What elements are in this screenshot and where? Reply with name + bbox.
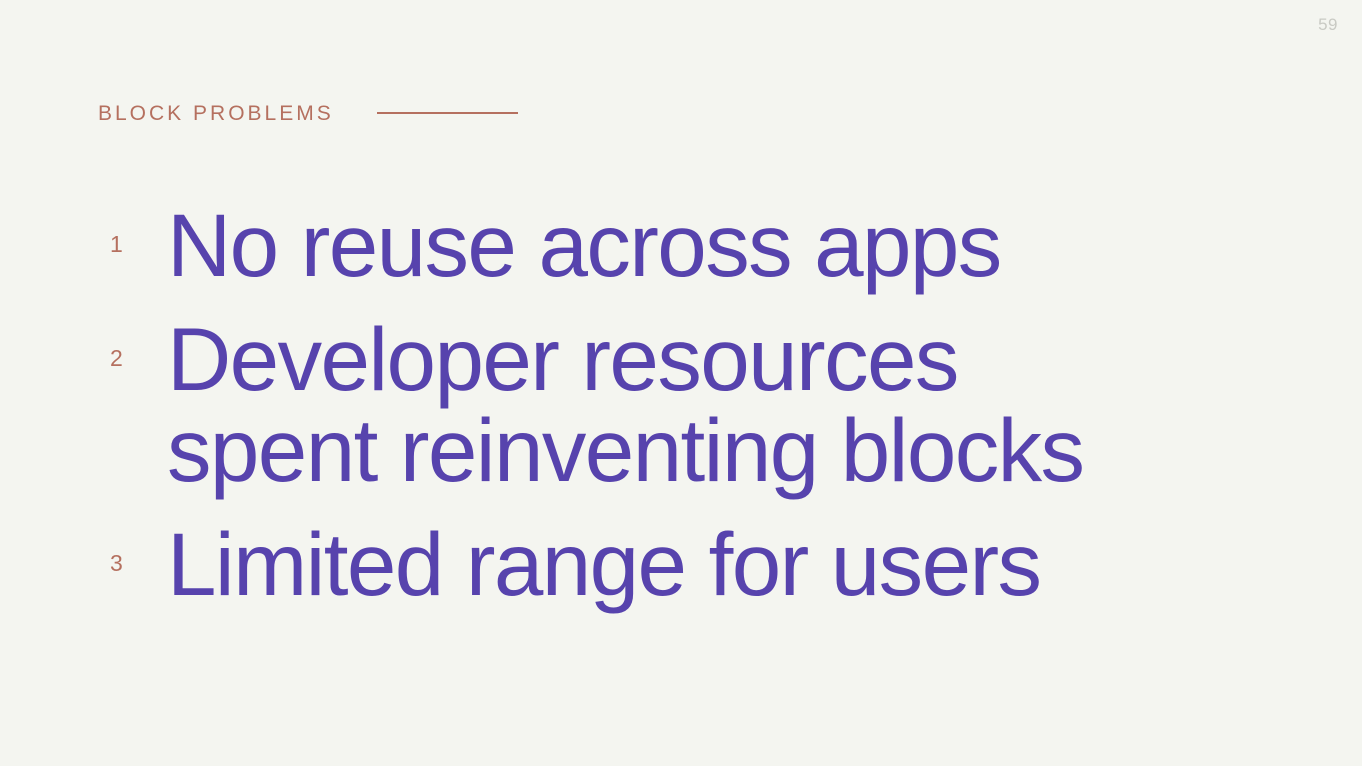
list-item-number: 1 (110, 200, 123, 256)
list-item: 2 Developer resources spent reinventing … (98, 314, 1278, 497)
problem-list: 1 No reuse across apps 2 Developer resou… (98, 200, 1278, 611)
section-header: BLOCK PROBLEMS (98, 97, 518, 129)
list-item-label: No reuse across apps (167, 195, 1001, 295)
list-item: 1 No reuse across apps (98, 200, 1278, 292)
section-header-label: BLOCK PROBLEMS (98, 103, 334, 124)
list-item-label: Limited range for users (167, 514, 1040, 614)
horizontal-rule-divider (377, 112, 518, 114)
list-item: 3 Limited range for users (98, 519, 1278, 611)
list-item-label: Developer resources spent reinventing bl… (167, 309, 1083, 501)
page-number: 59 (1318, 16, 1338, 33)
list-item-number: 2 (110, 314, 123, 370)
list-item-number: 3 (110, 519, 123, 575)
